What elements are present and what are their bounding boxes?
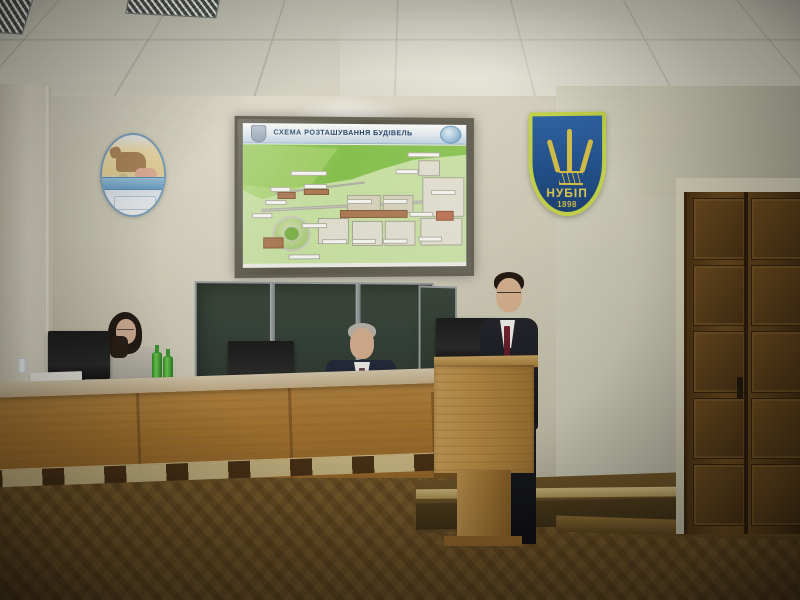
door-panel [693,265,746,327]
institution-logo-icon [440,126,461,144]
shield-name-text: НУБІП [533,186,603,201]
slide-title: СХЕМА РОЗТАШУВАННЯ БУДІВЕЛЬ [273,127,412,137]
lecture-hall-photo: СХЕМА РОЗТАШУВАННЯ БУДІВЕЛЬ НУБІП 1898 [0,0,800,600]
woman-glasses-icon [117,329,134,333]
door-panel [751,198,800,260]
label-r1 [396,169,418,174]
wheat-left-icon [547,139,561,173]
podium-stem [457,470,511,542]
shed-3 [436,211,453,220]
wooden-double-door[interactable] [684,192,800,534]
door-panel [693,398,746,460]
label-bot [288,254,320,259]
door-center-split [744,192,748,534]
woman-hand [110,336,128,358]
door-panel [693,198,746,260]
label-c3 [352,239,377,244]
label-c2 [322,239,347,244]
shed-2 [304,189,329,195]
door-panel [693,464,746,526]
wheat-center-icon [567,129,572,173]
door-panel [751,464,800,526]
wheat-right-icon [579,139,593,173]
speaker-tie [504,326,510,358]
label-field [291,171,327,176]
site-plan-map [243,144,466,264]
barn-long [340,210,407,218]
label-b4 [409,212,433,217]
man-head [350,328,374,359]
door-panel [751,398,800,460]
label-b2 [383,199,407,204]
door-panel [751,265,800,327]
institution-crest-icon [251,125,266,142]
label-m3 [304,184,327,189]
drinking-glass-left [18,358,27,373]
shed-1 [277,192,295,199]
emblem-plaque [114,196,156,210]
shed-4 [263,237,283,248]
wall-emblem-animal-roundel [100,133,166,217]
label-c5 [418,237,442,242]
wheat-binding-icon [559,171,583,185]
label-b1 [347,199,372,204]
label-b3 [431,190,455,195]
shield-year-text: 1898 [533,200,603,210]
label-m4 [252,214,273,219]
podium-body [434,365,534,473]
block-c [418,161,440,176]
slide-content: СХЕМА РОЗТАШУВАННЯ БУДІВЕЛЬ [243,123,466,268]
roundabout-center [284,226,301,241]
emblem-banner [102,177,164,190]
nubip-shield-emblem: НУБІП 1898 [529,111,607,216]
label-top-right [407,152,440,157]
projection-screen: СХЕМА РОЗТАШУВАННЯ БУДІВЕЛЬ [235,116,474,278]
door-panel [751,331,800,393]
label-m1 [270,187,290,192]
speaker-glasses-icon [497,292,521,296]
podium-foot [444,536,522,546]
block-h [420,218,462,246]
label-c1 [302,223,327,228]
door-handle-icon[interactable] [737,377,743,399]
label-m2 [266,200,286,205]
label-c4 [383,239,407,244]
